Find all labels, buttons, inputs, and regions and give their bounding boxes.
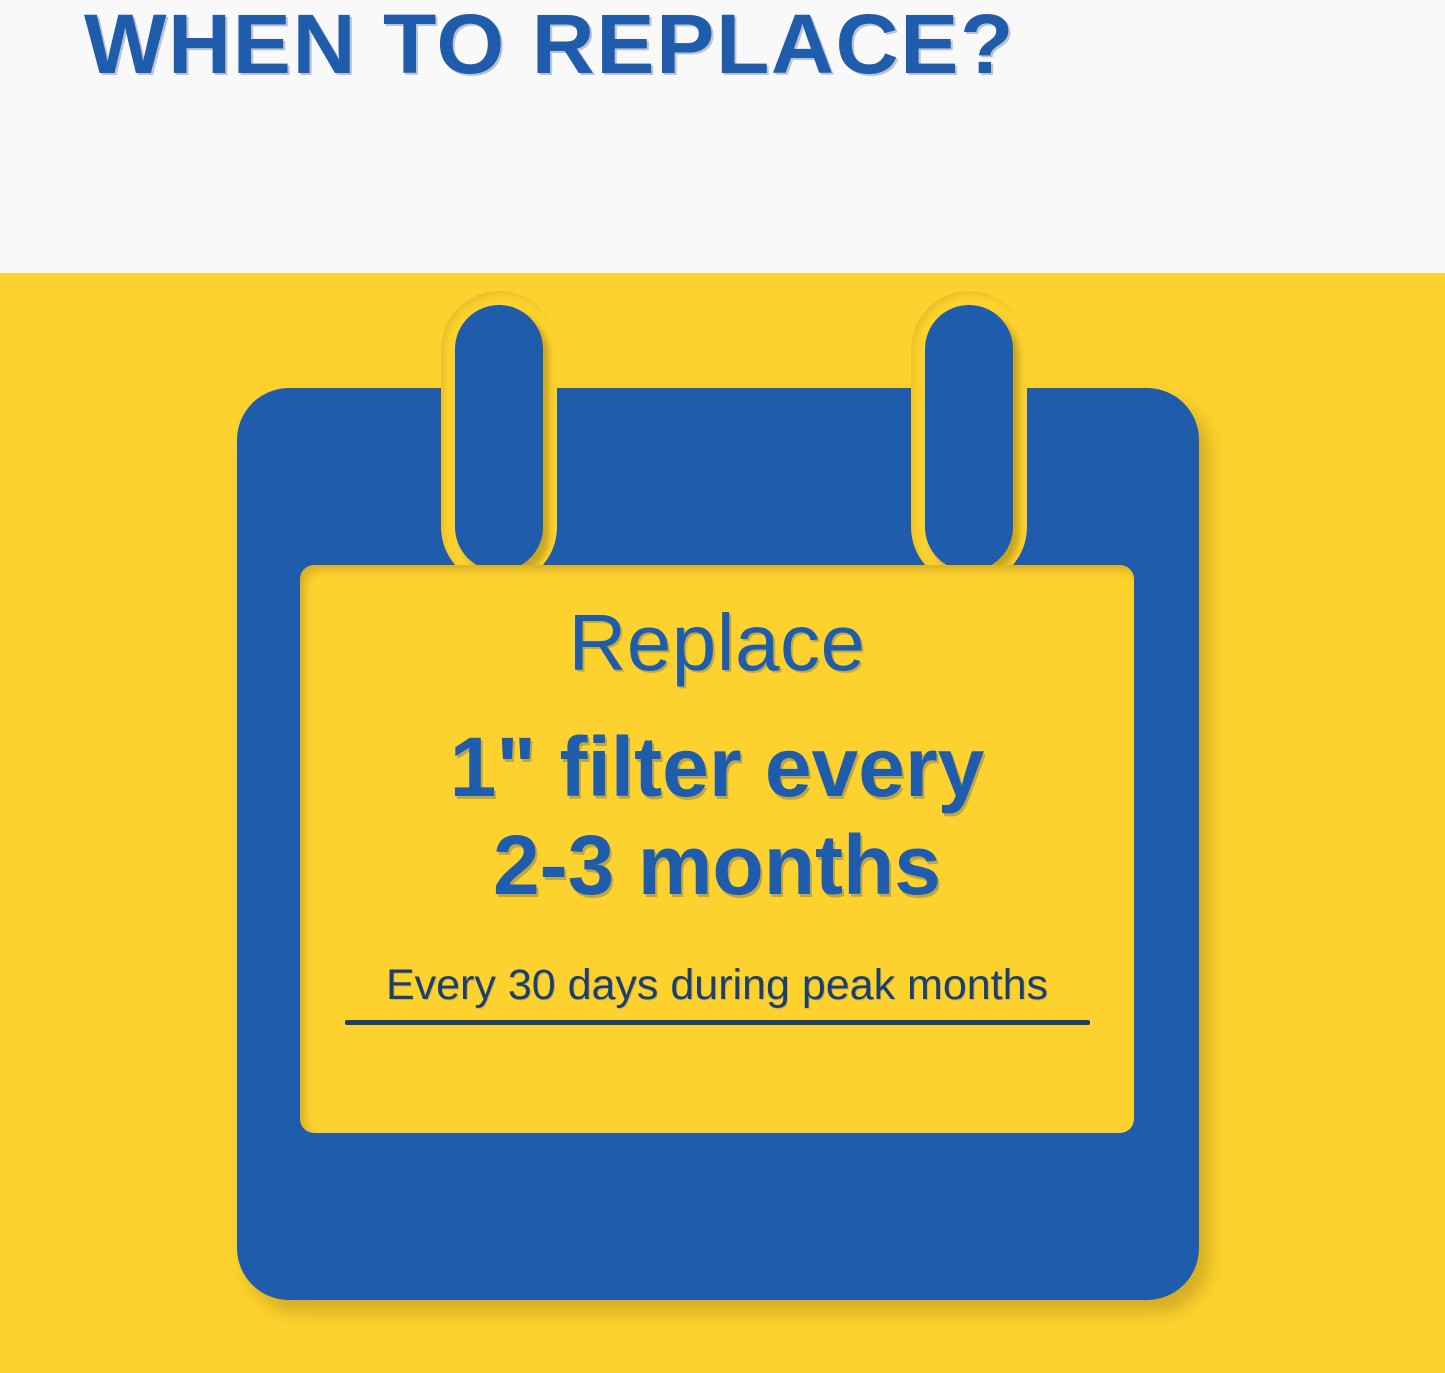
calendar-ring-left-icon xyxy=(455,305,543,571)
replace-label: Replace xyxy=(568,597,865,689)
header-band: WHEN TO REPLACE? xyxy=(0,0,1445,273)
calendar-ring-right-icon xyxy=(925,305,1013,571)
poster-root: WHEN TO REPLACE? Replace 1" filter every… xyxy=(0,0,1445,1373)
calendar-page-content: Replace 1" filter every 2-3 months Every… xyxy=(300,565,1134,1133)
caption-block: Every 30 days during peak months xyxy=(345,959,1090,1025)
calendar-page: Replace 1" filter every 2-3 months Every… xyxy=(300,565,1134,1133)
caption-underline xyxy=(345,1020,1090,1025)
replace-interval-line-2: 2-3 months xyxy=(493,817,941,913)
feature-panel: Replace 1" filter every 2-3 months Every… xyxy=(0,273,1445,1373)
replace-interval-line-1: 1" filter every xyxy=(450,719,985,815)
calendar-icon: Replace 1" filter every 2-3 months Every… xyxy=(237,305,1199,1305)
page-title: WHEN TO REPLACE? xyxy=(84,0,1197,90)
peak-months-caption: Every 30 days during peak months xyxy=(386,959,1048,1011)
